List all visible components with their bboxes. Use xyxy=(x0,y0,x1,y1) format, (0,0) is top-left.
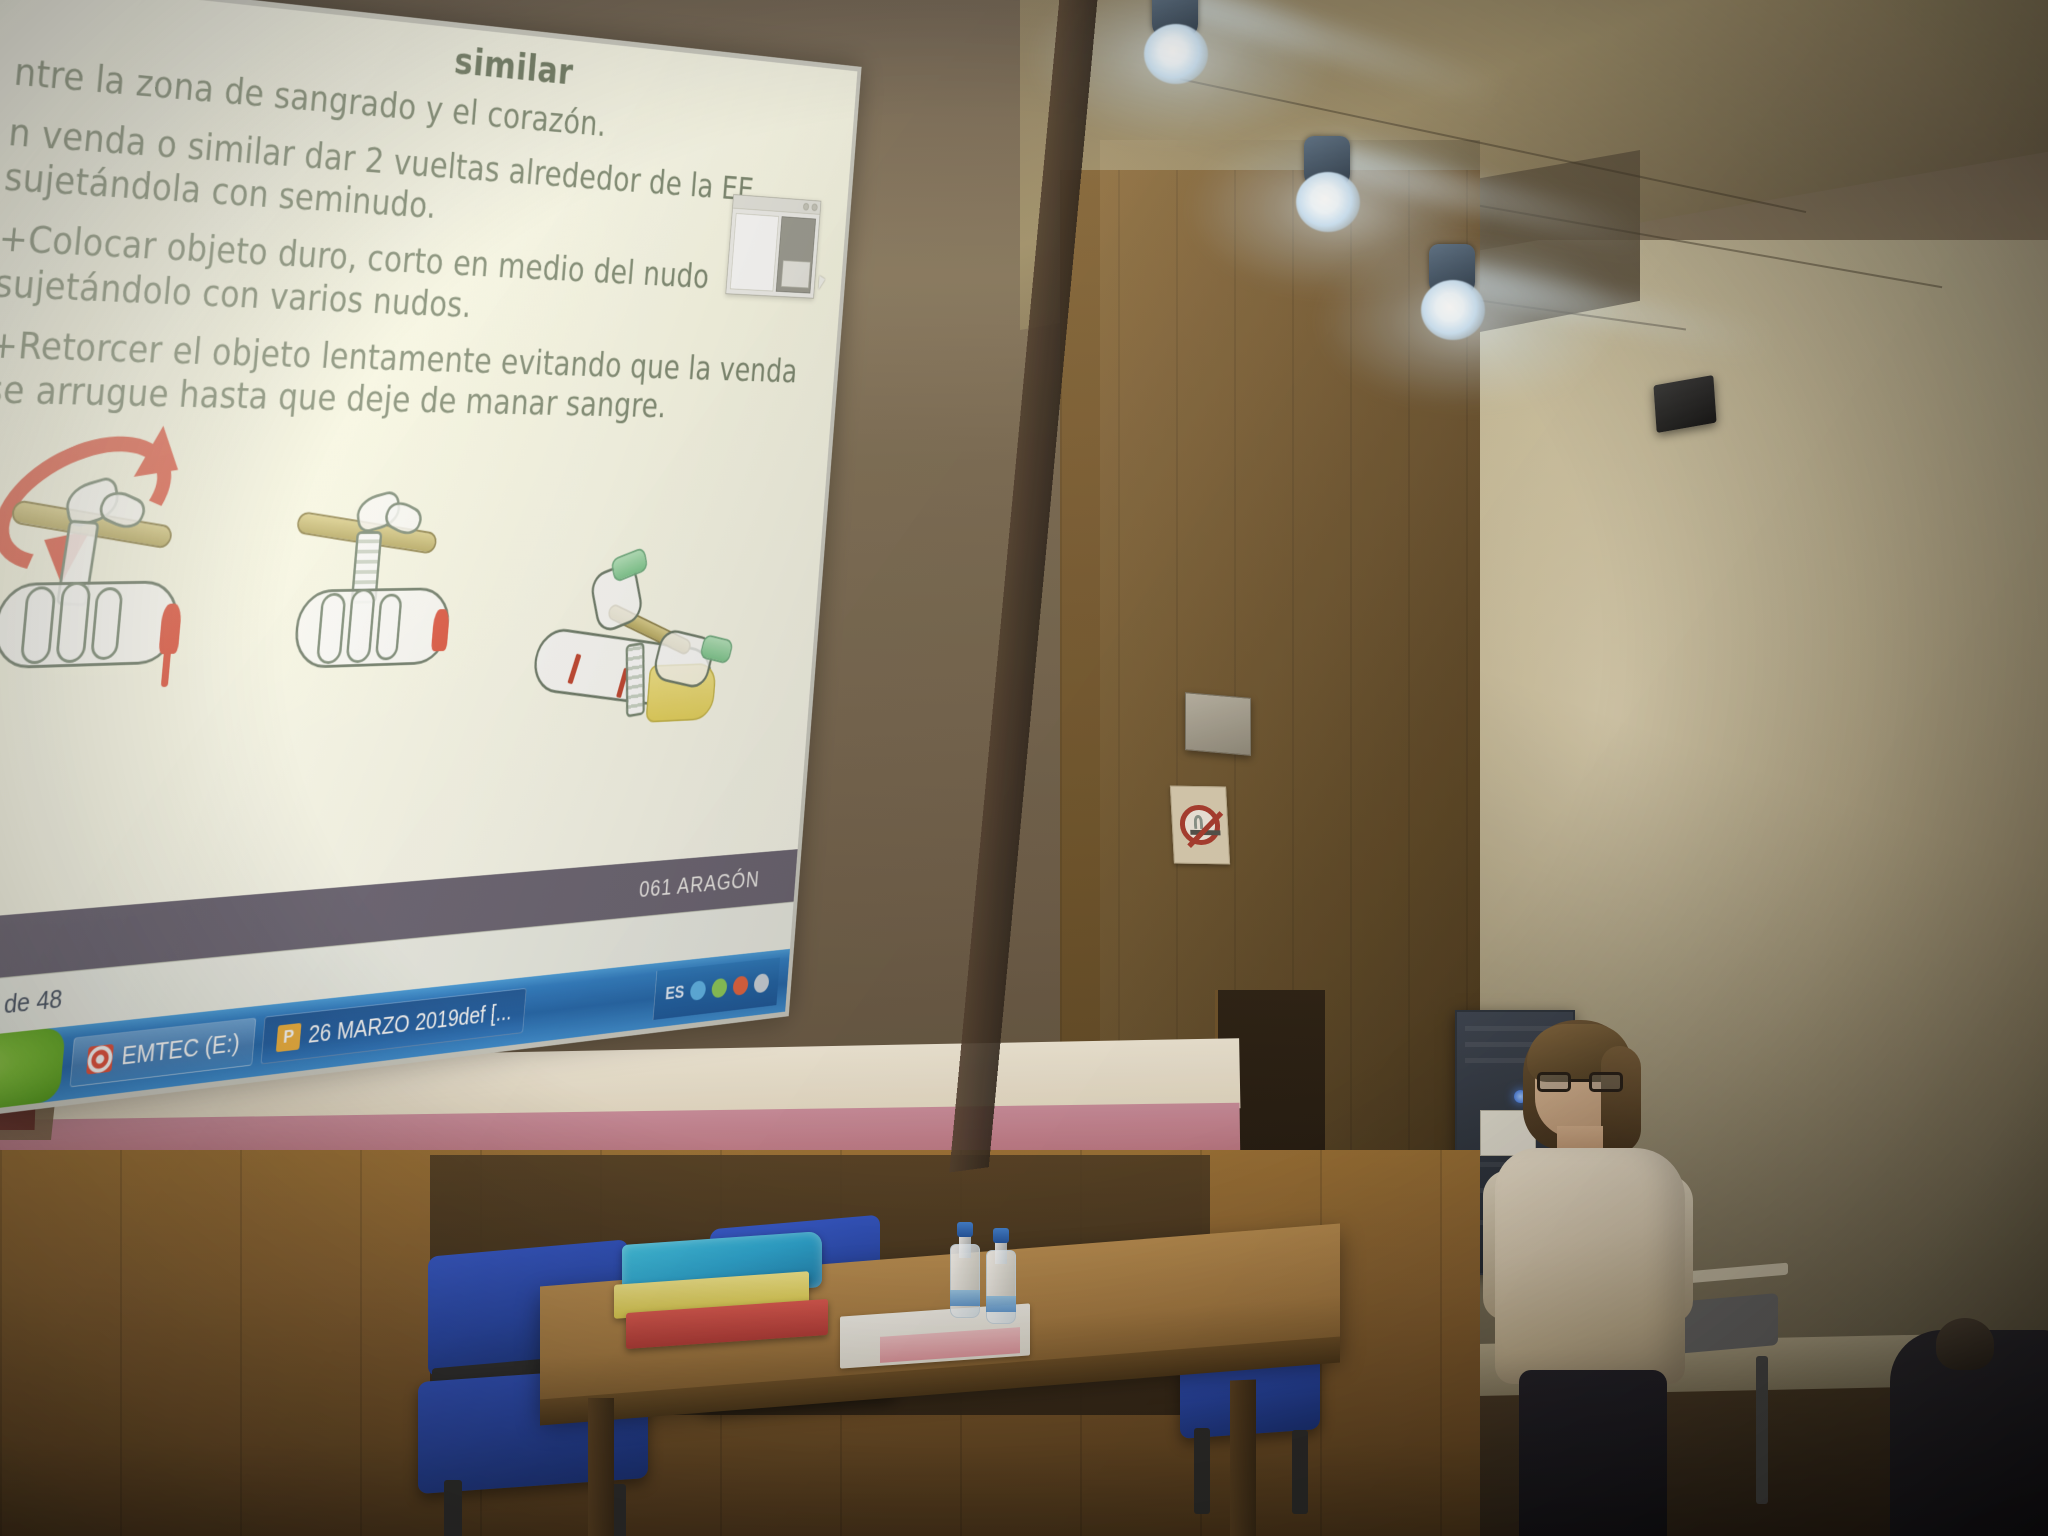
chair-leg xyxy=(1292,1430,1308,1514)
mouse-cursor-icon xyxy=(818,276,825,290)
spotlight-bulb xyxy=(1144,24,1208,84)
popup-thumbnail-pane xyxy=(776,216,816,293)
popup-control-icon[interactable] xyxy=(803,203,810,211)
bottle-neck xyxy=(995,1242,1007,1264)
popup-control-icon[interactable] xyxy=(811,203,817,211)
taskbar-item-label: EMTEC (E:) xyxy=(120,1029,240,1071)
slide-thumbnail-popup[interactable] xyxy=(725,194,821,299)
taskbar-item-label: 26 MARZO 2019def [... xyxy=(307,999,513,1049)
slide-footer-text: 061 ARAGÓN xyxy=(638,865,761,903)
messenger-icon[interactable] xyxy=(690,980,707,1001)
chair-leg xyxy=(1756,1356,1768,1504)
forearm-tourniquet-illustration xyxy=(522,558,768,802)
glasses-bridge xyxy=(1571,1079,1589,1082)
slide-canvas: similar ntre la zona de sangrado y el co… xyxy=(0,0,857,988)
bottle-label xyxy=(950,1290,980,1306)
slide-bullet-list: ntre la zona de sangrado y el corazón. n… xyxy=(0,50,827,429)
presenter-glasses xyxy=(1537,1072,1623,1092)
popup-preview-pane xyxy=(730,213,779,292)
wall-speaker xyxy=(1185,692,1251,756)
popup-body xyxy=(726,209,819,298)
no-smoking-icon xyxy=(1179,805,1221,846)
water-bottle-1[interactable] xyxy=(950,1222,980,1318)
table-leg xyxy=(1230,1380,1256,1536)
slide-counter: sitiva 18 de 48 xyxy=(0,985,64,1030)
volume-icon[interactable] xyxy=(753,973,769,993)
presenter-hair-side xyxy=(1601,1046,1641,1154)
chair-leg xyxy=(1194,1428,1210,1514)
taskbar-item-emtec[interactable]: EMTEC (E:) xyxy=(70,1018,256,1088)
spotlight-bulb xyxy=(1296,172,1360,232)
bottle-cap xyxy=(993,1228,1009,1243)
emtec-drive-icon xyxy=(86,1044,114,1075)
powerpoint-window: similar ntre la zona de sangrado y el co… xyxy=(0,0,857,1123)
lecture-hall-scene: similar ntre la zona de sangrado y el co… xyxy=(0,0,2048,1536)
tourniquet-secured-illustration xyxy=(258,479,519,735)
presenter xyxy=(1475,1020,1705,1536)
glasses-lens-right xyxy=(1589,1072,1623,1092)
bandage-wrap xyxy=(626,642,645,718)
presenter-sweater xyxy=(1495,1148,1685,1384)
slide-bullet: +Retorcer el objeto lentamente evitando … xyxy=(0,322,810,429)
antivirus-icon[interactable] xyxy=(732,975,748,996)
powerpoint-icon: P xyxy=(276,1023,302,1052)
presenter-trousers xyxy=(1519,1370,1667,1536)
bottle-cap xyxy=(957,1222,973,1237)
slide-illustrations xyxy=(0,416,805,842)
bottle-neck xyxy=(959,1236,971,1258)
glasses-lens-left xyxy=(1537,1072,1571,1092)
seated-attendee-head xyxy=(1936,1318,1994,1370)
projection-screen: similar ntre la zona de sangrado y el co… xyxy=(0,0,862,1130)
shield-icon[interactable] xyxy=(711,978,728,999)
table-leg xyxy=(588,1398,614,1536)
spotlight-bulb xyxy=(1421,280,1485,340)
water-bottle-2[interactable] xyxy=(986,1228,1016,1324)
chair-leg xyxy=(444,1480,462,1536)
bottle-label xyxy=(986,1296,1016,1312)
tourniquet-twist-illustration xyxy=(0,436,267,740)
language-indicator[interactable]: ES xyxy=(665,982,685,1004)
system-tray: ES xyxy=(653,958,780,1020)
smoke-icon xyxy=(1193,815,1203,829)
no-smoking-sign xyxy=(1170,786,1230,865)
